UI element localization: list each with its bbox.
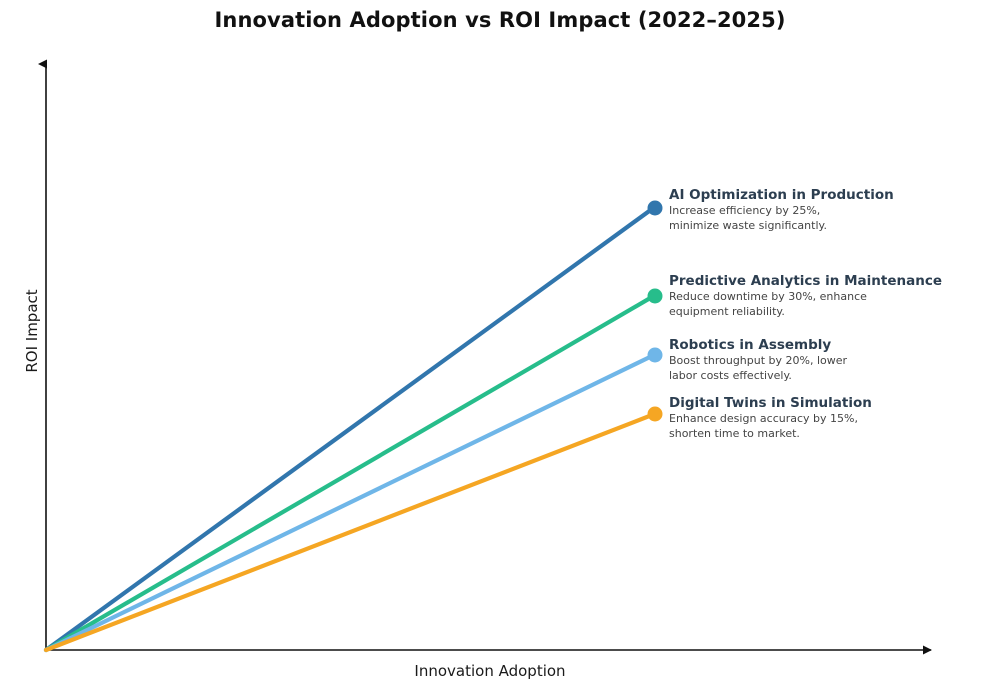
y-axis-label: ROI Impact xyxy=(23,271,41,391)
annotation-digital-twins-in-simulation: Digital Twins in Simulation Enhance desi… xyxy=(669,395,872,440)
annotation-desc-line-2: minimize waste significantly. xyxy=(669,219,894,233)
series-line-ai-optimization-in-production xyxy=(46,201,663,651)
annotation-desc-line-1: Boost throughput by 20%, lower xyxy=(669,354,847,368)
annotation-desc-line-1: Increase efficiency by 25%, xyxy=(669,204,894,218)
annotation-desc-line-2: equipment reliability. xyxy=(669,305,942,319)
plot-area xyxy=(0,0,1000,700)
annotation-desc-line-1: Enhance design accuracy by 15%, xyxy=(669,412,872,426)
series-line-digital-twins-in-simulation xyxy=(46,407,663,651)
chart-page: Innovation Adoption vs ROI Impact (2022–… xyxy=(0,0,1000,700)
annotation-desc-line-2: shorten time to market. xyxy=(669,427,872,441)
annotation-title: Robotics in Assembly xyxy=(669,337,847,353)
series-endpoint-marker xyxy=(648,289,663,304)
series-endpoint-marker xyxy=(648,201,663,216)
annotation-title: AI Optimization in Production xyxy=(669,187,894,203)
annotation-ai-optimization-in-production: AI Optimization in Production Increase e… xyxy=(669,187,894,232)
annotation-title: Digital Twins in Simulation xyxy=(669,395,872,411)
series-endpoint-marker xyxy=(648,348,663,363)
annotation-predictive-analytics-in-maintenance: Predictive Analytics in Maintenance Redu… xyxy=(669,273,942,318)
series-line-predictive-analytics-in-maintenance xyxy=(46,289,663,651)
annotation-title: Predictive Analytics in Maintenance xyxy=(669,273,942,289)
annotation-desc-line-1: Reduce downtime by 30%, enhance xyxy=(669,290,942,304)
annotation-robotics-in-assembly: Robotics in Assembly Boost throughput by… xyxy=(669,337,847,382)
series-endpoint-marker xyxy=(648,407,663,422)
annotation-desc-line-2: labor costs effectively. xyxy=(669,369,847,383)
x-axis-label: Innovation Adoption xyxy=(346,662,634,680)
series-line-robotics-in-assembly xyxy=(46,348,663,651)
